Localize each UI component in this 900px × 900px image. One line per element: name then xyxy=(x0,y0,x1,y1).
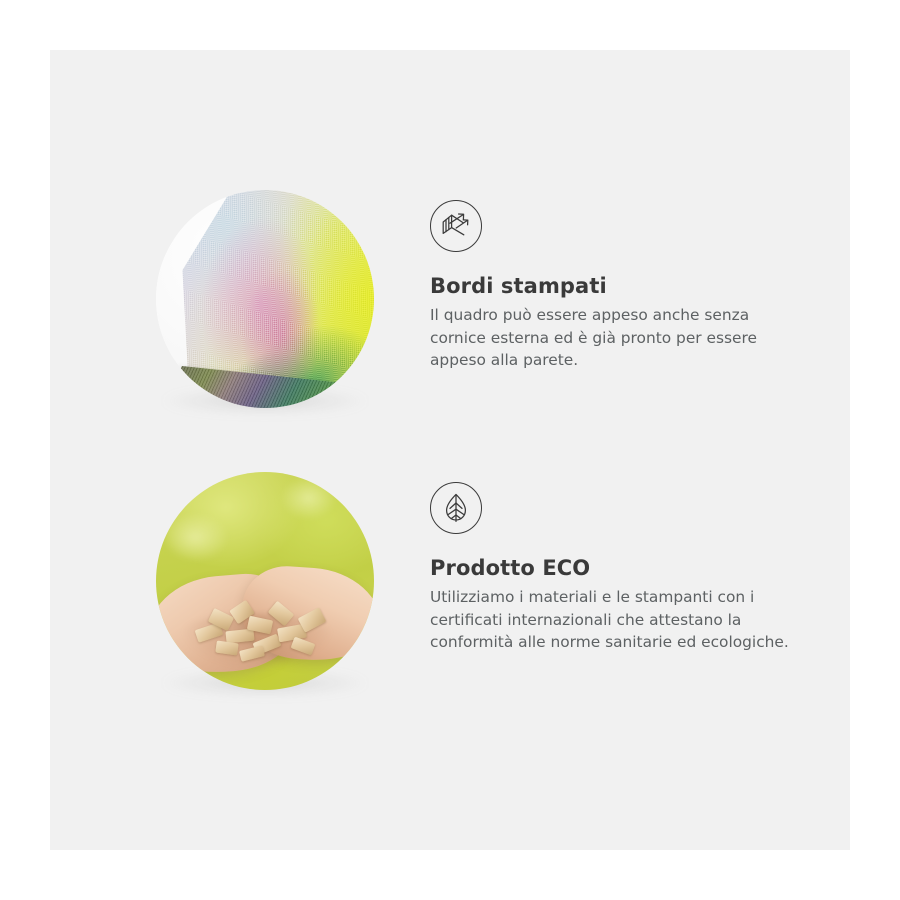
feature-printed-edges: Bordi stampati Il quadro può essere appe… xyxy=(50,190,802,408)
wood-chip xyxy=(215,641,238,656)
wood-chip xyxy=(239,645,265,661)
eco-hands-woodchips-image xyxy=(156,472,374,690)
wood-chip xyxy=(225,629,254,644)
eco-product-text: Prodotto ECO Utilizziamo i materiali e l… xyxy=(430,472,802,654)
product-feature-page: Bordi stampati Il quadro può essere appe… xyxy=(0,0,900,900)
feature-description: Il quadro può essere appeso anche senza … xyxy=(430,304,802,372)
content-panel: Bordi stampati Il quadro può essere appe… xyxy=(50,50,850,850)
leaf-icon xyxy=(430,482,482,534)
wood-chip xyxy=(291,637,316,656)
feature-title: Bordi stampati xyxy=(430,274,802,298)
canvas-folded-edge-arrows-icon xyxy=(430,200,482,252)
wood-chips-pile xyxy=(192,600,328,666)
canvas-corner-image xyxy=(156,190,374,408)
printed-edges-text: Bordi stampati Il quadro può essere appe… xyxy=(430,190,802,372)
feature-eco-product: Prodotto ECO Utilizziamo i materiali e l… xyxy=(50,472,802,690)
feature-title: Prodotto ECO xyxy=(430,556,802,580)
hands-illustration xyxy=(156,558,374,678)
feature-description: Utilizziamo i materiali e le stampanti c… xyxy=(430,586,802,654)
